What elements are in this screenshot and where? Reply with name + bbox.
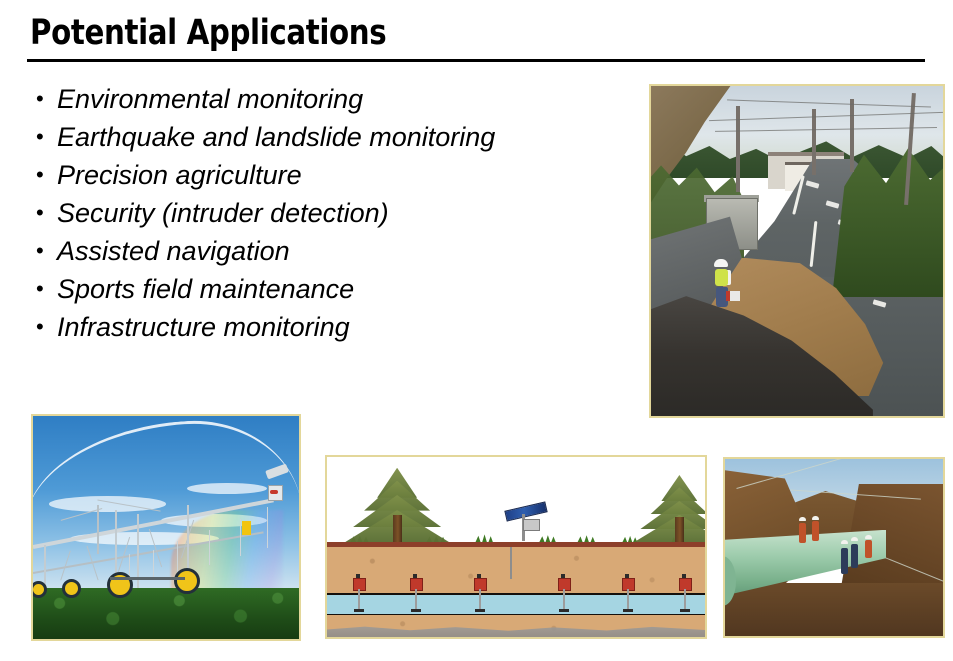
pivot-wheel xyxy=(174,568,200,594)
sprinkler-dropper xyxy=(209,530,210,566)
sensor-probe xyxy=(563,589,565,611)
title-divider xyxy=(27,59,925,62)
worker-hivis-vest xyxy=(715,269,728,286)
worker-hard-hat xyxy=(865,535,872,539)
worker-equipment xyxy=(726,291,740,301)
list-item: Sports field maintenance xyxy=(36,270,636,308)
worker xyxy=(851,544,858,568)
tower-mast xyxy=(97,505,99,554)
pivot-wheel xyxy=(62,579,81,598)
buried-sensor-network-diagram xyxy=(325,455,707,639)
list-item: Assisted navigation xyxy=(36,232,636,270)
pine-tree xyxy=(342,468,452,544)
worker-hard-hat xyxy=(714,259,728,267)
sensor-probe xyxy=(415,589,417,611)
list-item: Precision agriculture xyxy=(36,156,636,194)
sensor-probe xyxy=(479,589,481,611)
worker-hard-hat xyxy=(851,537,858,541)
earthquake-damaged-road-photo xyxy=(649,84,945,418)
worker-hard-hat xyxy=(841,540,848,544)
wheel-axle xyxy=(110,577,184,580)
utility-pole xyxy=(812,109,816,175)
list-item: Earthquake and landslide monitoring xyxy=(36,118,636,156)
sensor-probe-tip xyxy=(680,609,690,612)
groundwater-layer xyxy=(327,595,705,615)
sensor-probe xyxy=(627,589,629,611)
list-item: Environmental monitoring xyxy=(36,80,636,118)
pipeline-trench-photo xyxy=(723,457,945,638)
sensor-probe-tip xyxy=(411,609,421,612)
worker-hard-hat xyxy=(812,516,819,520)
worker xyxy=(865,540,872,558)
list-item: Security (intruder detection) xyxy=(36,194,636,232)
applications-list: Environmental monitoring Earthquake and … xyxy=(36,80,636,346)
control-box xyxy=(242,521,251,535)
tree-trunk xyxy=(675,517,684,543)
worker xyxy=(841,548,848,574)
sensor-probe-tip xyxy=(475,609,485,612)
list-item: Infrastructure monitoring xyxy=(36,308,636,346)
end-tower-marker xyxy=(270,490,278,494)
sensor-probe xyxy=(684,589,686,611)
pine-tree xyxy=(629,475,707,543)
sensor-probe-tip xyxy=(354,609,364,612)
sensor-probe xyxy=(358,589,360,611)
station-cable xyxy=(510,547,512,579)
station-enclosure xyxy=(523,519,540,531)
sprinkler-dropper xyxy=(153,550,154,579)
sprinkler-dropper xyxy=(177,541,178,574)
soil-layer xyxy=(327,547,705,594)
worker xyxy=(799,523,806,543)
page-title: Potential Applications xyxy=(30,13,386,53)
tree-trunk xyxy=(393,515,402,544)
slide-canvas: Potential Applications Environmental mon… xyxy=(0,0,953,661)
center-pivot-irrigation-photo xyxy=(31,414,301,641)
utility-pole xyxy=(850,99,854,172)
sensor-probe-tip xyxy=(623,609,633,612)
worker xyxy=(812,521,819,541)
sensor-probe-tip xyxy=(559,609,569,612)
worker-hard-hat xyxy=(799,517,806,521)
sprinkler-dropper xyxy=(267,507,268,547)
trench-floor xyxy=(725,583,943,636)
